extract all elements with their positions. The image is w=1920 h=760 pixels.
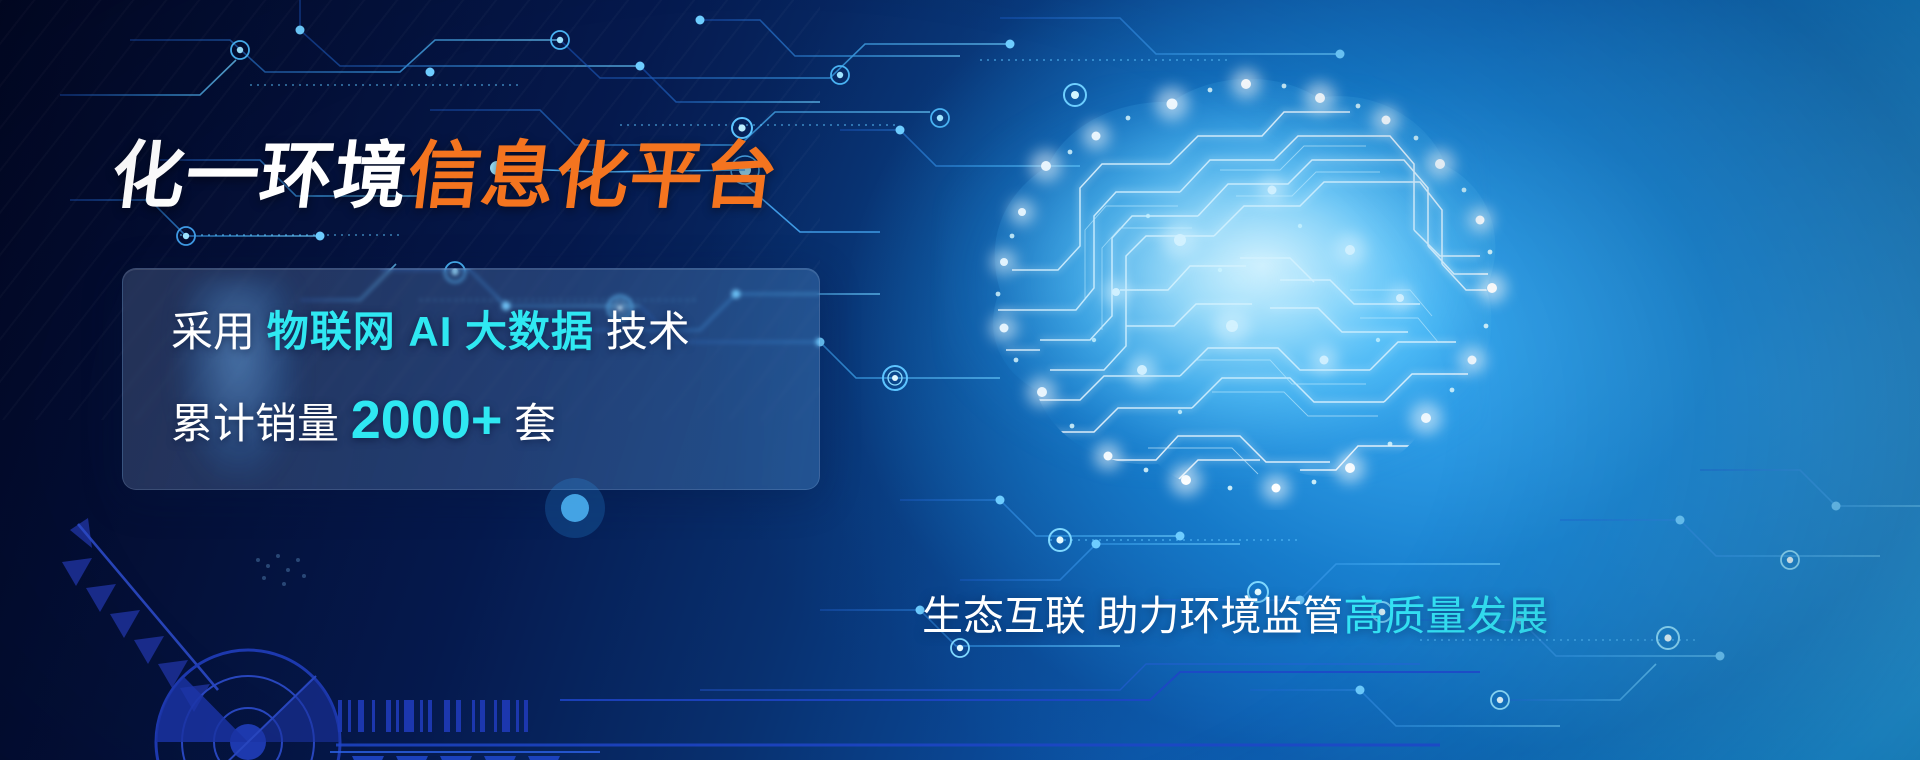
feature-line2-suffix: 套 [514,400,556,447]
headline-orange-text: 信息化平台 [403,136,783,217]
brain-glow [940,80,1480,480]
barcode-decoration [338,700,528,732]
halftone-decoration [256,554,306,586]
tagline-white-text: 生态互联 助力环境监管 [922,593,1343,639]
arrow-chevrons-decoration [62,518,210,712]
circuit-brain-graphic [880,40,1540,510]
circuit-brain-icon [880,40,1540,510]
feature-line1-prefix: 采用 [171,308,255,355]
hero-banner: 化一环境信息化平台 采用 物联网 AI 大数据 技术 累计销量 2000+ 套 … [0,0,1920,760]
feature-line1-highlight: 物联网 AI 大数据 [267,308,594,355]
arrow-shaft [78,524,218,690]
hud-bars-decoration [330,664,1480,752]
banner-tagline: 生态互联 助力环境监管高质量发展 [922,592,1548,641]
feature-line1-suffix: 技术 [606,308,690,355]
feature-line2-prefix: 累计销量 [171,400,339,447]
hud-radar-icon [156,650,340,760]
feature-card: 采用 物联网 AI 大数据 技术 累计销量 2000+ 套 [122,268,820,490]
feature-line2-highlight: 2000+ [351,390,503,450]
banner-headline: 化一环境信息化平台 [108,140,783,213]
feature-line-sales: 累计销量 2000+ 套 [171,393,556,447]
bottom-chevrons-decoration [352,756,560,760]
tagline-cyan-text: 高质量发展 [1343,593,1548,639]
feature-line-technology: 采用 物联网 AI 大数据 技术 [171,311,690,353]
headline-white-text: 化一环境 [107,136,413,217]
